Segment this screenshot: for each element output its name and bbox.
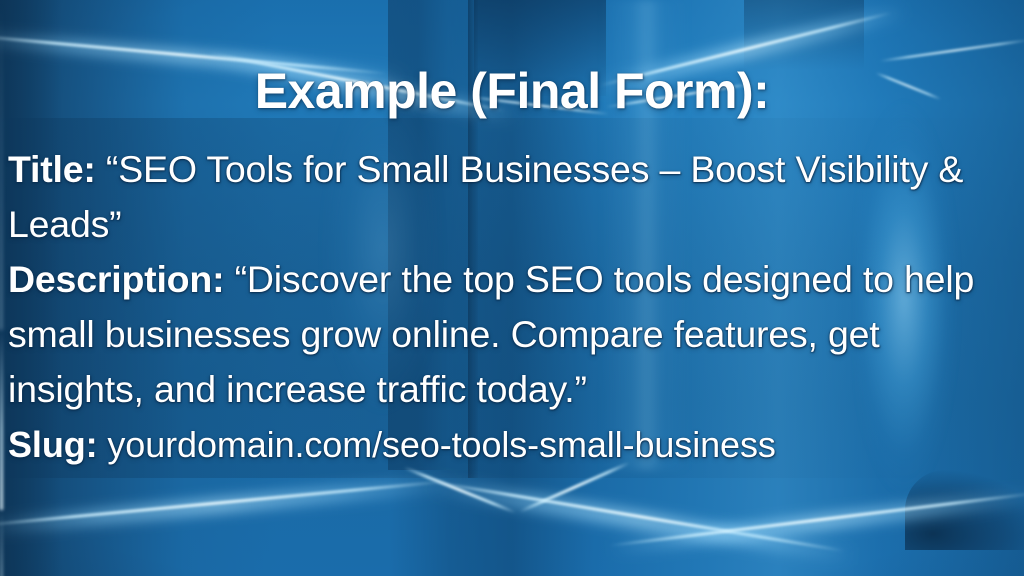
slide-body-copy: Title: “SEO Tools for Small Businesses –… bbox=[8, 142, 1020, 472]
field-slug-value: yourdomain.com/seo-tools-small-business bbox=[107, 424, 775, 465]
slide-headline: Example (Final Form): bbox=[0, 62, 1024, 120]
field-title-label: Title: bbox=[8, 148, 96, 190]
field-description-label: Description: bbox=[8, 258, 224, 300]
field-title-value: “SEO Tools for Small Businesses – Boost … bbox=[8, 148, 963, 245]
field-title: Title: “SEO Tools for Small Businesses –… bbox=[8, 142, 1020, 252]
field-slug: Slug: yourdomain.com/seo-tools-small-bus… bbox=[8, 417, 1020, 472]
field-description: Description: “Discover the top SEO tools… bbox=[8, 252, 1020, 417]
presentation-slide: Example (Final Form): Title: “SEO Tools … bbox=[0, 0, 1024, 576]
field-slug-label: Slug: bbox=[8, 424, 97, 465]
